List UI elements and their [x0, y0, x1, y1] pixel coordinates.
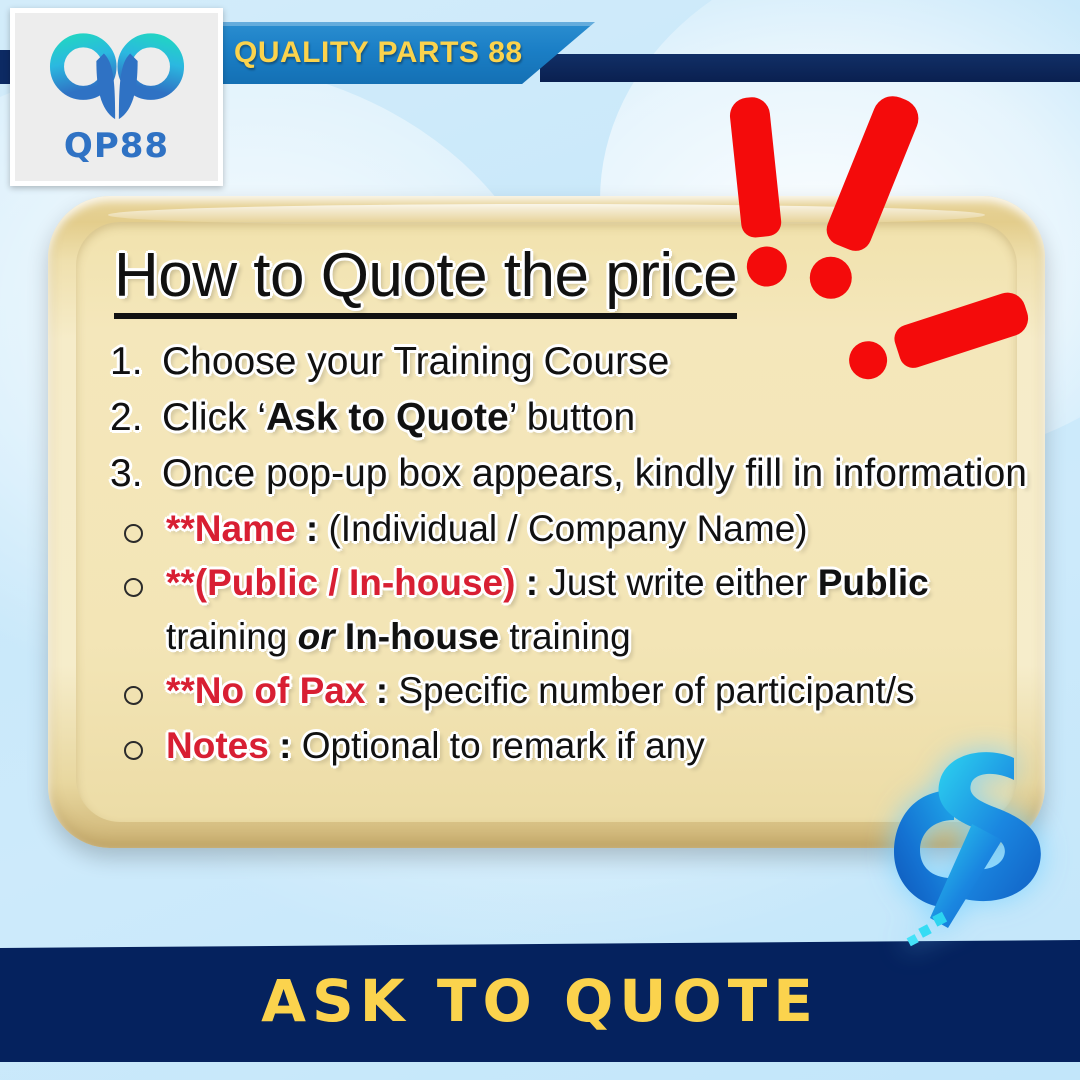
header-banner: QUALITY PARTS 88: [190, 22, 595, 84]
exclamation-bar: [728, 95, 782, 238]
ask-to-quote-emphasis: Ask to Quote: [266, 396, 509, 439]
sub-item-label: Notes: [166, 725, 269, 766]
header-banner-highlight: [190, 22, 595, 26]
sub-item-label: **(Public / In-house): [166, 562, 515, 603]
exclamation-mark-icon: [802, 90, 925, 306]
public-emphasis: Public: [818, 562, 929, 603]
exclamation-bar: [822, 90, 925, 256]
sub-item-separator: :: [296, 508, 329, 549]
in-house-emphasis: In-house: [335, 616, 499, 657]
sub-item-public-inhouse: **(Public / In-house) : Just write eithe…: [110, 556, 1039, 664]
page-title: How to Quote the price: [114, 240, 737, 319]
sub-item-separator: :: [365, 670, 398, 711]
step-text-suffix: ’ button: [509, 396, 635, 439]
sub-item-value-a: Just write either: [548, 562, 817, 603]
sub-item-value: (Individual / Company Name): [328, 508, 807, 549]
exclamation-dot: [803, 250, 858, 305]
sub-item-name: **Name : (Individual / Company Name): [110, 502, 1039, 556]
header-title: QUALITY PARTS 88: [190, 36, 523, 70]
step-text: Choose your Training Course: [162, 340, 669, 383]
header-ribbon-tail: [540, 54, 1080, 82]
sub-item-no-of-pax: **No of Pax : Specific number of partici…: [110, 664, 1039, 718]
or-emphasis: or: [298, 616, 335, 657]
sub-item-separator: :: [269, 725, 302, 766]
step-text-prefix: Click ‘: [162, 396, 266, 439]
exclamation-bar: [891, 288, 1033, 372]
step-item: Click ‘Ask to Quote’ button: [110, 391, 1039, 445]
step-item: Once pop-up box appears, kindly fill in …: [110, 447, 1039, 501]
sub-item-separator: :: [515, 562, 548, 603]
ask-to-quote-cta-label: ASK TO QUOTE: [261, 967, 819, 1035]
brand-logo-tile: QP88: [10, 8, 223, 186]
footer-cta-band[interactable]: ASK TO QUOTE: [0, 940, 1080, 1062]
sub-item-value-b: training: [166, 616, 298, 657]
logo-wordmark: QP88: [64, 126, 169, 166]
qp88-double-ring-logo-icon: [42, 28, 192, 124]
exclamation-dot: [745, 245, 789, 289]
sub-item-label: **Name: [166, 508, 296, 549]
poster-canvas: QUALITY PARTS 88: [0, 0, 1080, 1080]
sp-swoosh-monogram-icon: [876, 728, 1066, 948]
sub-item-label: **No of Pax: [166, 670, 365, 711]
step-text: Once pop-up box appears, kindly fill in …: [162, 452, 1027, 495]
sub-item-value-c: training: [499, 616, 631, 657]
sub-item-value: Optional to remark if any: [302, 725, 705, 766]
exclamation-cluster: [730, 95, 1070, 365]
exclamation-mark-icon: [728, 95, 789, 288]
sub-item-value: Specific number of participant/s: [398, 670, 914, 711]
